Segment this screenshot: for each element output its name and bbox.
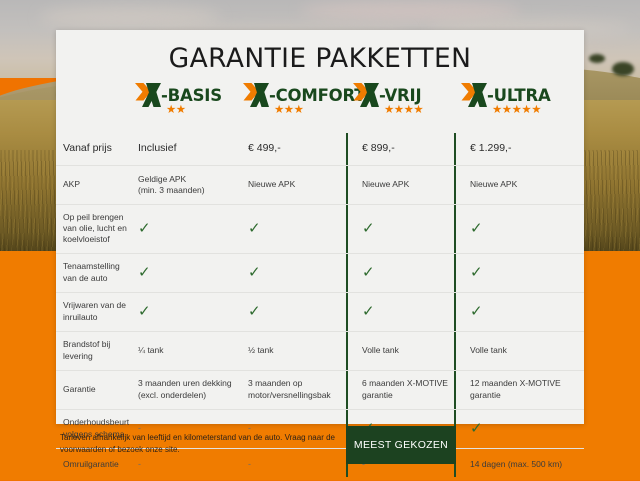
package-star-rating: ★★★★ [384, 105, 423, 116]
cell-value: 6 maanden X-MOTIVE garantie [362, 378, 448, 400]
table-cell: € 1.299,- [462, 133, 576, 165]
row-label: Garantie [56, 371, 134, 409]
cell-value: Nieuwe APK [470, 179, 517, 190]
package-header-vrij[interactable]: -VRIJ★★★★ [352, 82, 421, 128]
check-icon: ✓ [138, 221, 151, 236]
table-cell: ✓ [462, 254, 576, 292]
package-name: -VRIJ [379, 86, 421, 105]
table-row: Vanaf prijsInclusief€ 499,-€ 899,-€ 1.29… [56, 133, 584, 165]
package-header-comfort[interactable]: -COMFORT★★★ [242, 82, 365, 128]
logo-wrap: -VRIJ★★★★ [352, 82, 421, 108]
package-header-row: -BASIS★★-COMFORT★★★-VRIJ★★★★-ULTRA★★★★★ [56, 82, 584, 128]
check-icon: ✓ [362, 304, 375, 319]
table-cell: ✓ [354, 205, 462, 253]
table-row: AKPGeldige APK (min. 3 maanden)Nieuwe AP… [56, 165, 584, 204]
cell-value: Volle tank [470, 345, 507, 356]
check-icon: ✓ [470, 221, 483, 236]
table-row: Op peil brengen van olie, lucht en koelv… [56, 204, 584, 253]
row-label: Tenaamstelling van de auto [56, 254, 134, 292]
package-name: -COMFORT [269, 86, 365, 105]
check-icon: ✓ [248, 221, 261, 236]
check-icon: ✓ [470, 265, 483, 280]
check-icon: ✓ [138, 304, 151, 319]
pricing-card: GARANTIE PAKKETTEN -BASIS★★-COMFORT★★★-V… [56, 30, 584, 424]
row-label: Vrijwaren van de inruilauto [56, 293, 134, 331]
logo-wrap: -COMFORT★★★ [242, 82, 365, 108]
table-row: Garantie3 maanden uren dekking (excl. on… [56, 370, 584, 409]
table-cell: Nieuwe APK [354, 166, 462, 204]
check-icon: ✓ [470, 304, 483, 319]
cloud [300, 2, 520, 20]
table-cell: Inclusief [134, 133, 244, 165]
logo-top: -COMFORT [242, 82, 365, 108]
cell-value: € 899,- [362, 142, 395, 156]
cell-value: 12 maanden X-MOTIVE garantie [470, 378, 561, 400]
check-icon: ✓ [138, 265, 151, 280]
tree [612, 62, 634, 76]
table-cell: ½ tank [244, 332, 354, 370]
cell-value: Nieuwe APK [362, 179, 409, 190]
table-cell: ✓ [244, 205, 354, 253]
package-name: -BASIS [161, 86, 222, 105]
table-cell: € 899,- [354, 133, 462, 165]
table-cell: Nieuwe APK [462, 166, 576, 204]
cell-value: 3 maanden op motor/versnellingsbak [248, 378, 331, 400]
table-row: Tenaamstelling van de auto✓✓✓✓ [56, 253, 584, 292]
footer: Tarieven afhankelijk van leeftijd en kil… [56, 424, 584, 480]
package-header-ultra[interactable]: -ULTRA★★★★★ [460, 82, 551, 128]
table-cell: ✓ [462, 293, 576, 331]
x-motive-logo-icon [460, 82, 488, 108]
tree [589, 54, 605, 63]
cell-value: ½ tank [248, 345, 274, 356]
table-cell: 3 maanden uren dekking (excl. onderdelen… [134, 371, 244, 409]
package-star-rating: ★★★ [274, 105, 303, 116]
page-title: GARANTIE PAKKETTEN [56, 30, 584, 74]
table-cell: ✓ [244, 254, 354, 292]
check-icon: ✓ [248, 304, 261, 319]
table-cell: Geldige APK (min. 3 maanden) [134, 166, 244, 204]
package-name: -ULTRA [487, 86, 551, 105]
check-icon: ✓ [362, 265, 375, 280]
table-cell: ✓ [134, 254, 244, 292]
table-cell: € 499,- [244, 133, 354, 165]
table-cell: Volle tank [354, 332, 462, 370]
meest-gekozen-button[interactable]: MEEST GEKOZEN [346, 426, 456, 464]
table-cell: ✓ [134, 205, 244, 253]
check-icon: ✓ [248, 265, 261, 280]
table-cell: Volle tank [462, 332, 576, 370]
table-cell: ✓ [134, 293, 244, 331]
table-cell: ✓ [462, 205, 576, 253]
row-label: Vanaf prijs [56, 133, 134, 165]
package-star-rating: ★★★★★ [492, 105, 541, 116]
row-label: Op peil brengen van olie, lucht en koelv… [56, 205, 134, 253]
package-star-rating: ★★ [166, 105, 186, 116]
table-cell: ✓ [244, 293, 354, 331]
cell-value: 3 maanden uren dekking (excl. onderdelen… [138, 378, 232, 400]
cell-value: Geldige APK (min. 3 maanden) [138, 174, 205, 196]
cloud [40, 6, 220, 28]
table-cell: ✓ [354, 293, 462, 331]
table-cell: ¼ tank [134, 332, 244, 370]
package-header-basis[interactable]: -BASIS★★ [134, 82, 222, 128]
x-motive-logo-icon [242, 82, 270, 108]
table-cell: 6 maanden X-MOTIVE garantie [354, 371, 462, 409]
table-cell: 3 maanden op motor/versnellingsbak [244, 371, 354, 409]
cell-value: Inclusief [138, 142, 177, 156]
table-cell: ✓ [354, 254, 462, 292]
cell-value: Volle tank [362, 345, 399, 356]
disclaimer-text: Tarieven afhankelijk van leeftijd en kil… [60, 432, 350, 456]
x-motive-logo-icon [134, 82, 162, 108]
logo-wrap: -ULTRA★★★★★ [460, 82, 551, 108]
cell-value: ¼ tank [138, 345, 164, 356]
table-cell: 12 maanden X-MOTIVE garantie [462, 371, 576, 409]
table-row: Vrijwaren van de inruilauto✓✓✓✓ [56, 292, 584, 331]
cell-value: € 499,- [248, 142, 281, 156]
table-row: Brandstof bij levering¼ tank½ tankVolle … [56, 331, 584, 370]
logo-wrap: -BASIS★★ [134, 82, 222, 108]
check-icon: ✓ [362, 221, 375, 236]
row-label: Brandstof bij levering [56, 332, 134, 370]
x-motive-logo-icon [352, 82, 380, 108]
cell-value: Nieuwe APK [248, 179, 295, 190]
table-cell: Nieuwe APK [244, 166, 354, 204]
row-label: AKP [56, 166, 134, 204]
cell-value: € 1.299,- [470, 142, 511, 156]
